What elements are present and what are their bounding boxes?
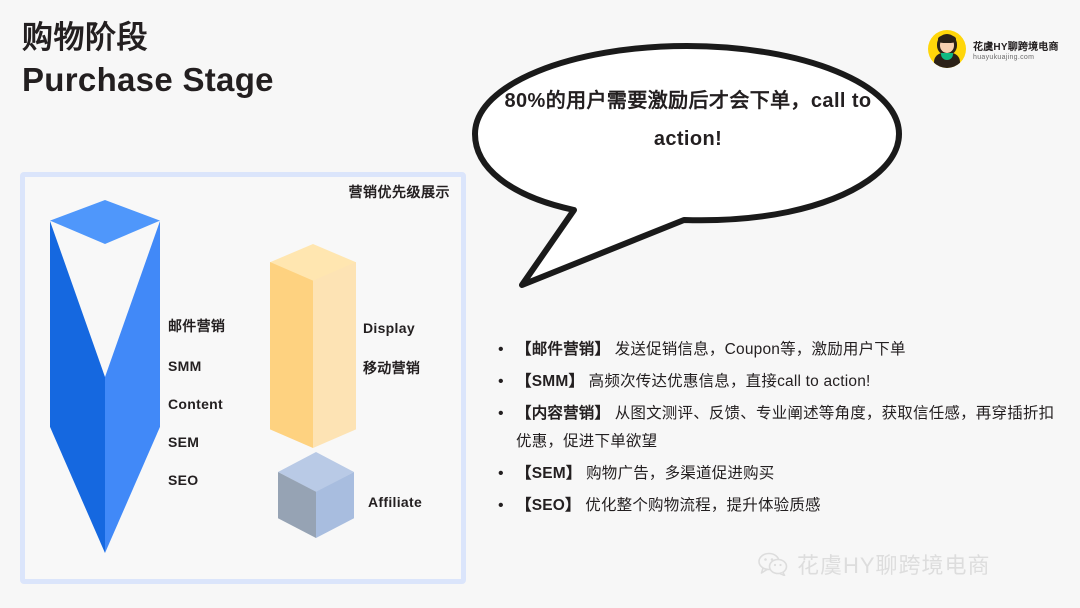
chart-label-group-medium: Display 移动营销 [363,320,420,400]
list-item: • 【SMM】 高频次传达优惠信息，直接call to action! [498,368,1058,396]
chart-label-seo: SEO [168,472,225,488]
brand-name: 花虞HY聊跨境电商 [973,38,1059,53]
list-item: • 【内容营销】 从图文测评、反馈、专业阐述等角度，获取信任感，再穿插折扣优惠，… [498,400,1058,456]
bar-left-face [50,221,105,553]
list-item-desc: 高频次传达优惠信息，直接call to action! [584,373,870,390]
chart-label-mobile: 移动营销 [363,358,420,378]
list-item-tag: 【邮件营销】 [516,341,610,358]
speech-bubble-text: 80%的用户需要激励后才会下单，call to action! [500,82,876,158]
chart-label-affiliate: Affiliate [368,494,422,510]
list-item: • 【SEO】 优化整个购物流程，提升体验质感 [498,492,1058,520]
list-item-text: 【SMM】 高频次传达优惠信息，直接call to action! [516,368,871,396]
speech-bubble: 80%的用户需要激励后才会下单，call to action! [462,36,912,298]
list-item-tag: 【内容营销】 [516,405,610,422]
bar-top-face [50,200,160,244]
page-title: 购物阶段 Purchase Stage [22,18,274,102]
chart-label-content: Content [168,396,225,412]
bar-high-priority [50,200,160,558]
bullet-dot: • [498,460,516,488]
bar-left-face [270,262,313,448]
page-title-cn: 购物阶段 [22,18,274,58]
list-item-text: 【SEM】 购物广告，多渠道促进购买 [516,460,775,488]
bar-right-face [105,221,160,553]
list-item-tag: 【SEM】 [516,465,582,482]
woman-avatar-icon [928,30,966,68]
bar-right-face [313,262,356,448]
list-item-desc: 优化整个购物流程，提升体验质感 [581,497,821,514]
list-item-desc: 发送促销信息，Coupon等，激励用户下单 [610,341,906,358]
bullet-dot: • [498,400,516,428]
chart-title: 营销优先级展示 [349,182,451,202]
bullet-dot: • [498,336,516,364]
list-item-text: 【SEO】 优化整个购物流程，提升体验质感 [516,492,821,520]
marketing-tactics-list: • 【邮件营销】 发送促销信息，Coupon等，激励用户下单 • 【SMM】 高… [498,336,1058,524]
chart-label-display: Display [363,320,420,336]
bullet-dot: • [498,492,516,520]
chart-label-group-high: 邮件营销 SMM Content SEM SEO [168,316,225,510]
list-item-tag: 【SMM】 [516,373,584,390]
list-item-text: 【内容营销】 从图文测评、反馈、专业阐述等角度，获取信任感，再穿插折扣优惠，促进… [516,400,1058,456]
chart-label-sem: SEM [168,434,225,450]
bar-low-priority [278,452,354,538]
list-item-desc: 购物广告，多渠道促进购买 [582,465,775,482]
chart-label-smm: SMM [168,358,225,374]
watermark-text: 花虞HY聊跨境电商 [797,548,991,580]
bullet-dot: • [498,368,516,396]
list-item: • 【邮件营销】 发送促销信息，Coupon等，激励用户下单 [498,336,1058,364]
brand-text: 花虞HY聊跨境电商 huayukuajing.com [973,38,1059,61]
list-item-text: 【邮件营销】 发送促销信息，Coupon等，激励用户下单 [516,336,906,364]
brand-website: huayukuajing.com [973,54,1059,61]
speech-bubble-shape [462,36,912,298]
wechat-icon [758,552,788,576]
chart-label-email: 邮件营销 [168,316,225,336]
marketing-priority-chart: 营销优先级展示 邮件营销 SMM Content SEM SEO Display… [20,172,466,584]
list-item-tag: 【SEO】 [516,497,581,514]
page-title-en: Purchase Stage [22,58,274,102]
brand-logo: 花虞HY聊跨境电商 huayukuajing.com [928,30,1059,68]
watermark: 花虞HY聊跨境电商 [758,548,991,580]
list-item: • 【SEM】 购物广告，多渠道促进购买 [498,460,1058,488]
